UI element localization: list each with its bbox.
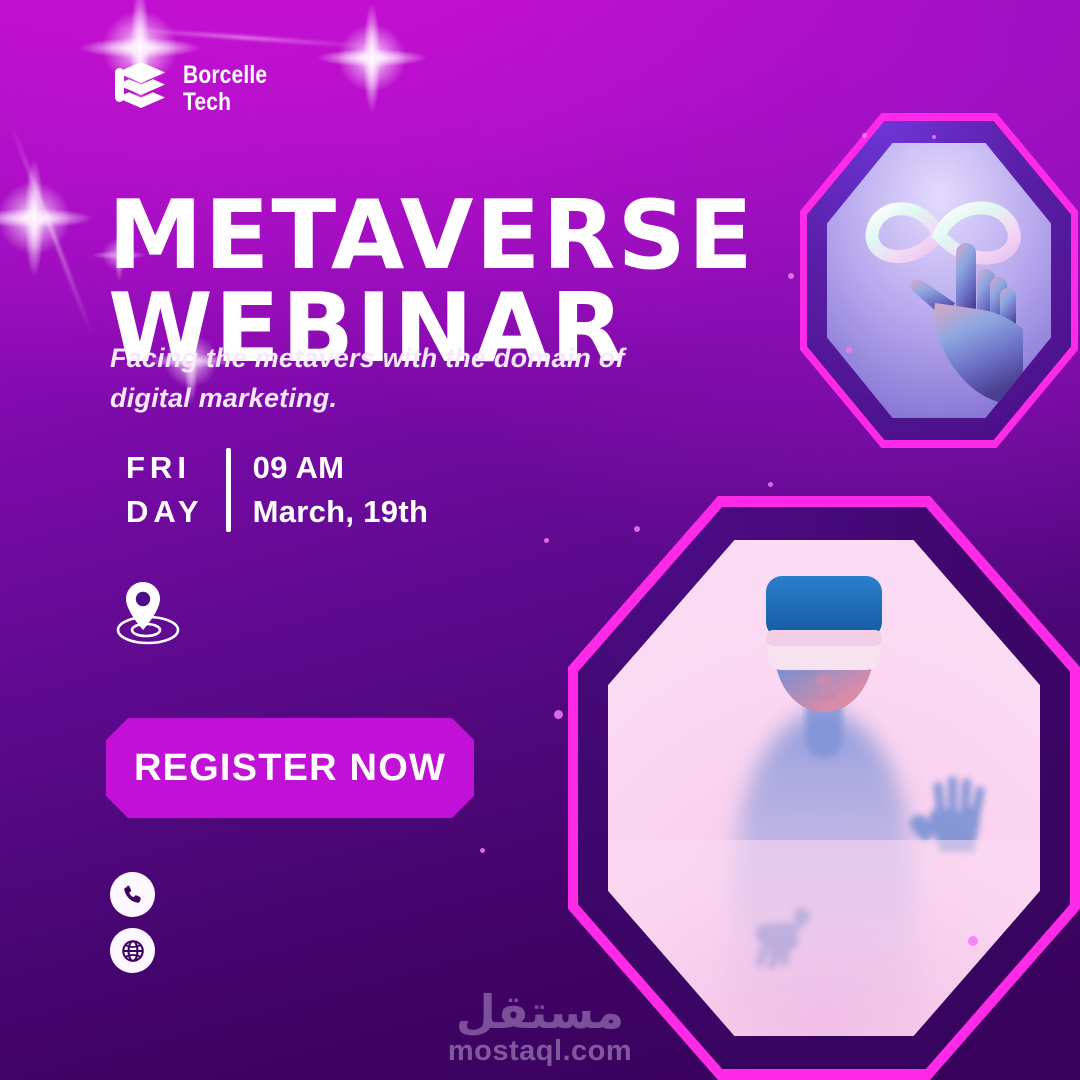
brand-name-line2: Tech <box>183 89 267 116</box>
particle-dot <box>968 936 978 946</box>
phone-icon[interactable] <box>110 872 155 917</box>
map-pin-icon <box>112 578 184 650</box>
schedule-date: March, 19th <box>253 490 429 534</box>
schedule-time: 09 AM <box>253 446 429 490</box>
schedule-day-line2: DAY <box>126 490 204 534</box>
poster-canvas: Borcelle Tech METAVERSE WEBINAR Facing t… <box>0 0 1080 1080</box>
subtitle-text: Facing the metavers with the domain of d… <box>110 339 630 419</box>
particle-dot <box>554 710 563 719</box>
person-wearing-vr-headset-icon <box>608 540 1040 1036</box>
brand-name-line1: Borcelle <box>183 62 267 89</box>
layers-stack-icon <box>113 60 169 118</box>
schedule-day-line1: FRI <box>126 446 204 490</box>
schedule-block: FRI DAY 09 AM March, 19th <box>126 446 428 534</box>
particle-dot <box>846 347 852 353</box>
octagon-frame-infinity <box>800 113 1078 448</box>
particle-dot <box>480 848 485 853</box>
particle-dot <box>788 273 794 279</box>
particle-dot <box>862 133 867 138</box>
brand-logo: Borcelle Tech <box>113 60 283 118</box>
particle-dot <box>932 135 936 139</box>
register-now-button[interactable]: REGISTER NOW <box>106 718 474 818</box>
star-sparkle-icon <box>318 4 426 112</box>
particle-dot <box>634 526 640 532</box>
constellation-line <box>112 27 374 48</box>
particle-dot <box>768 482 773 487</box>
contact-icons <box>110 872 155 973</box>
constellation-line <box>9 121 94 337</box>
globe-icon[interactable] <box>110 928 155 973</box>
register-button-label: REGISTER NOW <box>134 747 446 790</box>
hand-pointing-at-infinity-icon <box>827 143 1051 418</box>
octagon-frame-vr <box>568 496 1080 1080</box>
star-sparkle-icon <box>0 160 92 276</box>
particle-dot <box>544 538 549 543</box>
title-line-1: METAVERSE <box>108 190 808 283</box>
